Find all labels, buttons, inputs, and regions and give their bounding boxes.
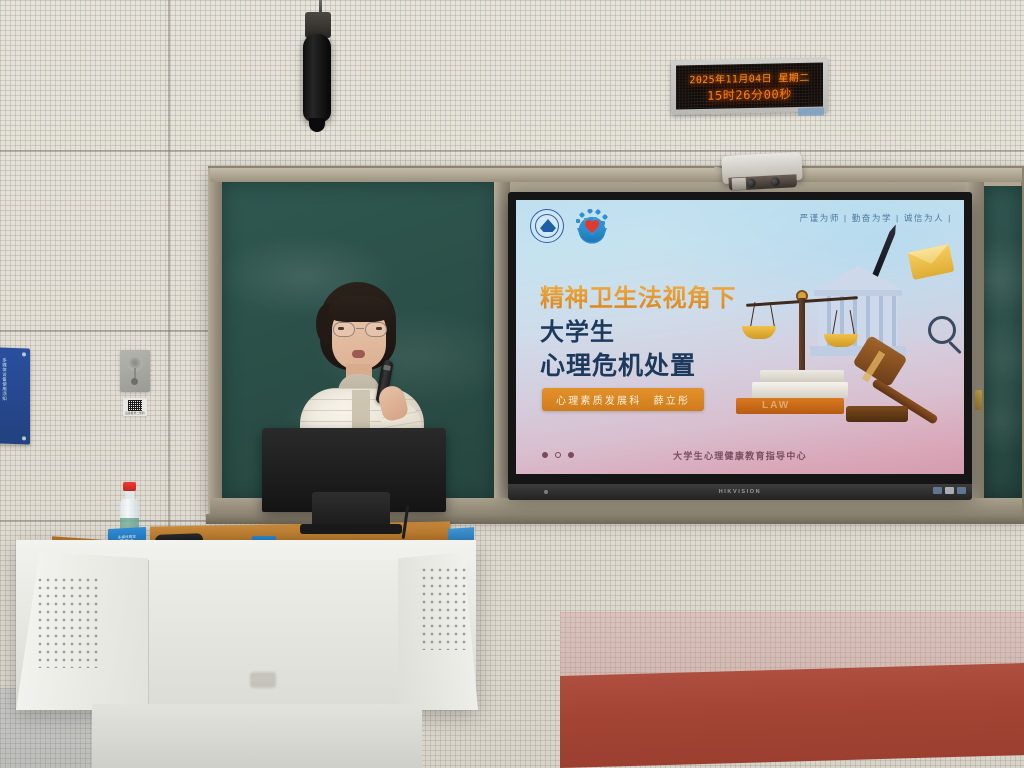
sensor-bulb-icon — [131, 378, 138, 385]
scales-pan-left — [742, 326, 776, 339]
led-clock-date: 2025年11月04日 星期二 — [689, 68, 809, 86]
board-rail-top — [210, 168, 1022, 182]
slide-footer: 大学生心理健康教育指导中心 — [516, 449, 964, 462]
bottle-cap — [123, 482, 136, 491]
floor-dado — [560, 663, 1024, 768]
display-brand-label: HIKVISION — [719, 489, 762, 495]
university-seal-logo — [530, 209, 564, 243]
podium-front-panel — [148, 560, 402, 710]
podium-scuff-mark — [250, 672, 276, 688]
eyeglasses-icon — [332, 322, 388, 337]
led-clock-time: 15时26分00秒 — [707, 85, 792, 104]
camera-lens — [747, 178, 756, 187]
monitor-stand-neck — [312, 492, 390, 528]
display-bezel: HIKVISION — [508, 484, 972, 500]
qr-code-label: 设备报修二维码 — [123, 398, 147, 416]
plaque-screw — [22, 436, 26, 440]
hanging-shotgun-microphone-icon — [303, 34, 331, 122]
magnifying-glass-icon — [928, 316, 956, 344]
wall-led-clock: 2025年11月04日 星期二 15时26分00秒 — [671, 57, 828, 114]
speaker-grille-left — [36, 576, 98, 668]
glasses-bridge — [356, 328, 364, 329]
judge-gavel-icon — [840, 342, 952, 434]
qr-code-icon — [128, 400, 142, 411]
camera-mount — [732, 178, 747, 191]
speaker-grille-right — [420, 566, 466, 650]
slide-logos — [530, 208, 610, 244]
envelope-icon — [908, 244, 955, 280]
slide-title-line1: 精神卫生法视角下 — [540, 278, 736, 313]
lecture-room-photo: 2025年11月04日 星期二 15时26分00秒 多媒体设备使用须知 设备报修… — [0, 0, 1024, 768]
podium-base — [92, 704, 422, 768]
led-clock-screen: 2025年11月04日 星期二 15时26分00秒 — [676, 62, 823, 109]
led-clock-label — [798, 107, 824, 116]
glasses-lens-left — [333, 322, 355, 337]
bezel-button[interactable] — [945, 487, 954, 494]
monitor-stand-base — [300, 524, 402, 534]
interactive-smart-display[interactable]: 严谨为师 | 勤奋为学 | 诚信为人 | — [508, 192, 972, 492]
display-power-led — [544, 490, 548, 494]
display-bezel-buttons[interactable] — [933, 487, 966, 494]
book-law — [736, 398, 844, 414]
hands-heart-logo — [574, 208, 610, 244]
presentation-slide: 严谨为师 | 勤奋为学 | 诚信为人 | — [516, 200, 964, 474]
chalkboard-right-panel — [982, 186, 1022, 498]
slide-illustration — [708, 220, 958, 450]
board-latch[interactable] — [975, 390, 982, 410]
qr-caption: 设备报修二维码 — [125, 411, 145, 415]
wall-seam — [0, 150, 1024, 152]
hair-fringe — [328, 296, 390, 322]
bezel-button[interactable] — [957, 487, 966, 494]
wall-sensor-panel — [120, 350, 150, 392]
blue-plaque-text: 多媒体设备使用须知 — [0, 358, 9, 434]
frame-post-left — [208, 168, 222, 516]
slide-title-line2: 大学生 — [540, 312, 615, 347]
book-middle — [752, 382, 848, 398]
gavel-sound-block — [846, 406, 908, 422]
glasses-lens-right — [365, 322, 387, 337]
slide-title-line3: 心理危机处置 — [540, 346, 696, 382]
mouth — [352, 350, 365, 358]
wall-seam — [168, 0, 170, 560]
presenter-badge: 心理素质发展科 薛立彤 — [542, 388, 704, 411]
bezel-button[interactable] — [933, 487, 942, 494]
blue-instruction-plaque: 多媒体设备使用须知 — [0, 347, 30, 444]
wall-seam — [0, 330, 210, 332]
camera-lens — [771, 177, 780, 186]
plaque-screw — [22, 352, 26, 356]
